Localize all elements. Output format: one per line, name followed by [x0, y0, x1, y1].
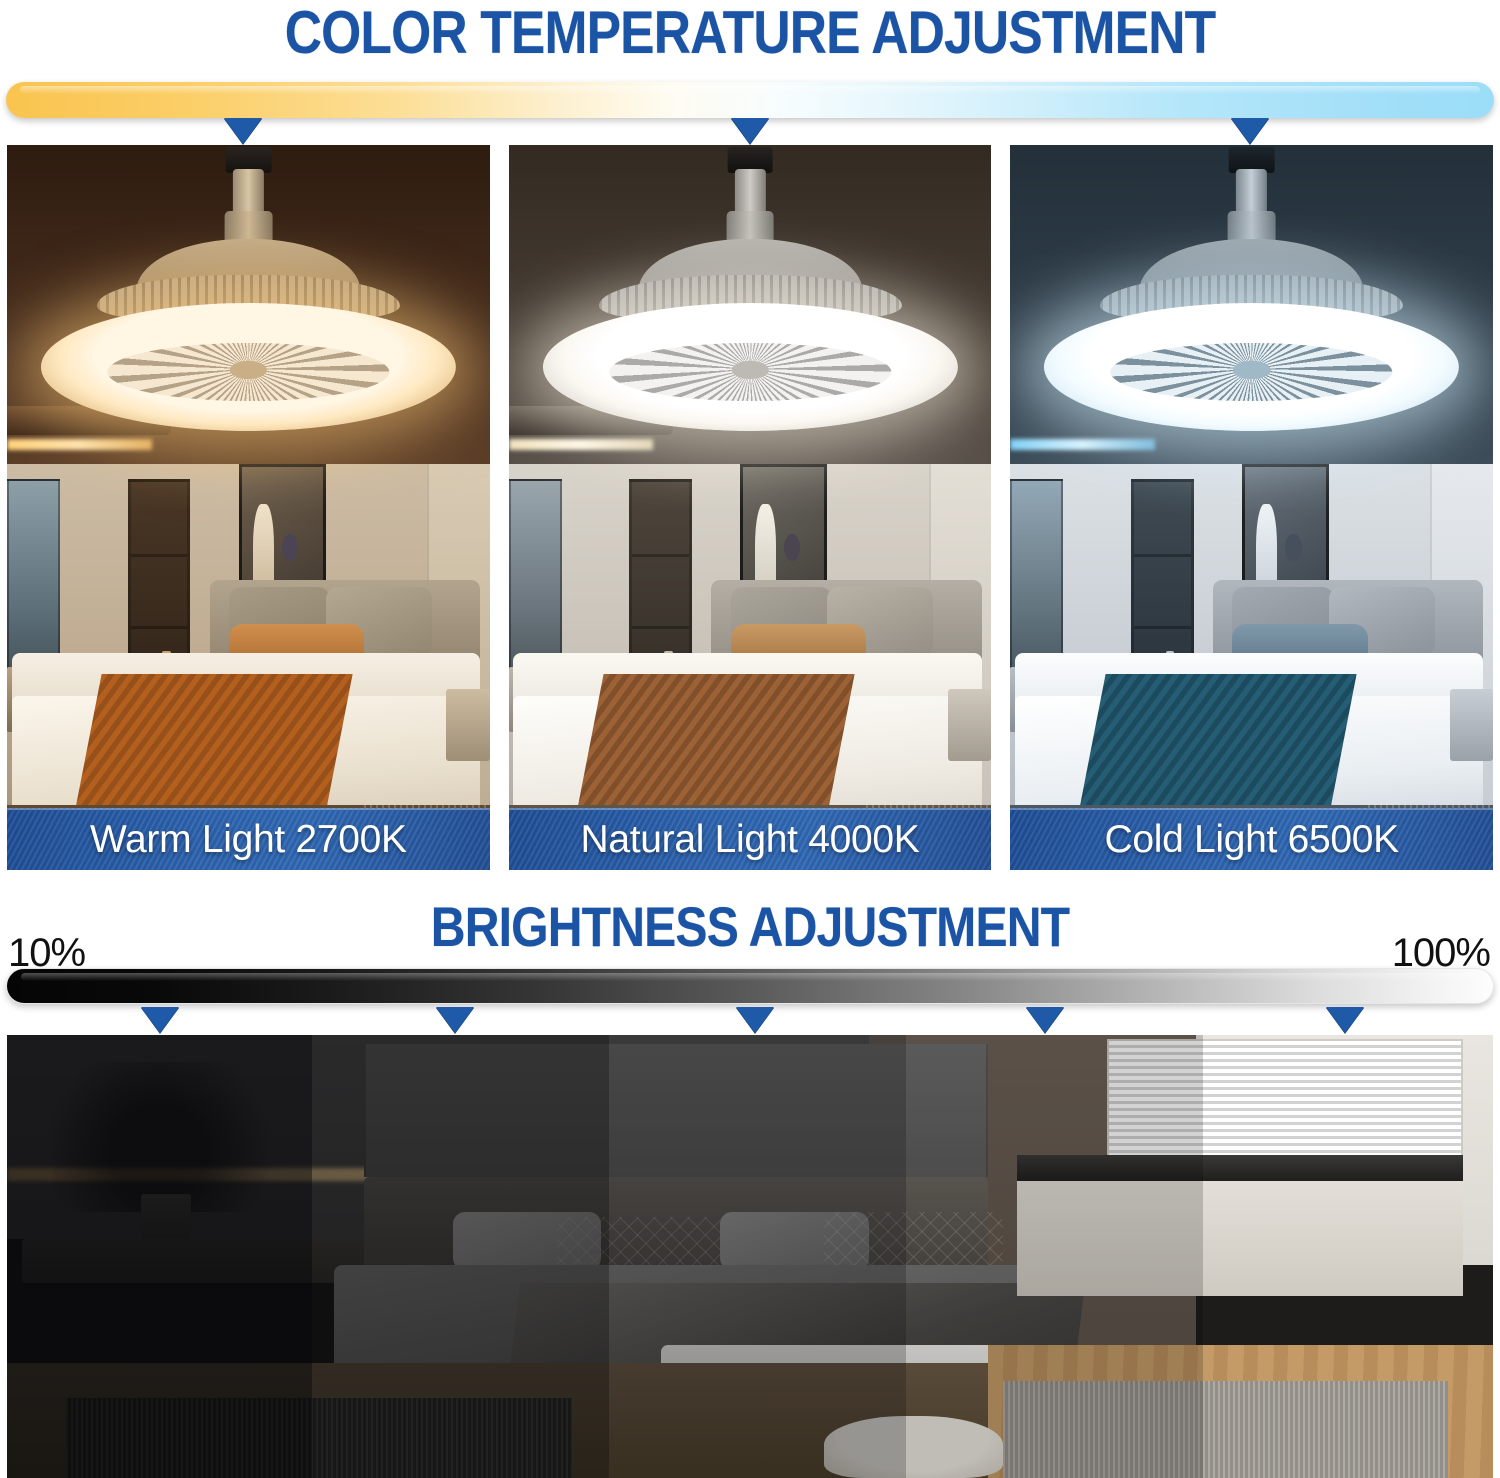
bedroom-scene-warm	[7, 145, 490, 870]
brightness-gradient-bar	[6, 968, 1494, 1004]
panel-warm-light[interactable]: Warm Light 2700K	[7, 145, 490, 870]
panel-caption-cold: Cold Light 6500K	[1010, 808, 1493, 870]
brightness-bedroom-scene	[7, 1035, 1493, 1478]
caption-text-natural: Natural Light 4000K	[580, 818, 919, 862]
caption-text-warm: Warm Light 2700K	[90, 818, 407, 862]
natural-marker-icon	[731, 118, 769, 144]
bedroom-scene-natural	[509, 145, 992, 870]
brightness-title: BRIGHTNESS ADJUSTMENT	[105, 898, 1395, 956]
panel-caption-natural: Natural Light 4000K	[509, 808, 992, 870]
brightness-marker-5-icon	[1326, 1007, 1364, 1033]
cold-marker-icon	[1231, 118, 1269, 144]
brightness-marker-3-icon	[736, 1007, 774, 1033]
color-temperature-gradient-bar	[6, 82, 1494, 118]
brightness-marker-2-icon	[436, 1007, 474, 1033]
brightness-marker-1-icon	[141, 1007, 179, 1033]
bedroom-scene-cold	[1010, 145, 1493, 870]
panel-caption-warm: Warm Light 2700K	[7, 808, 490, 870]
panel-natural-light[interactable]: Natural Light 4000K	[509, 145, 992, 870]
brightness-scene-background	[7, 1035, 1493, 1478]
color-temperature-panels: Warm Light 2700K	[7, 145, 1493, 870]
panel-cold-light[interactable]: Cold Light 6500K	[1010, 145, 1493, 870]
brightness-marker-4-icon	[1026, 1007, 1064, 1033]
color-temperature-title: COLOR TEMPERATURE ADJUSTMENT	[105, 0, 1395, 64]
caption-text-cold: Cold Light 6500K	[1104, 818, 1398, 862]
warm-marker-icon	[224, 118, 262, 144]
